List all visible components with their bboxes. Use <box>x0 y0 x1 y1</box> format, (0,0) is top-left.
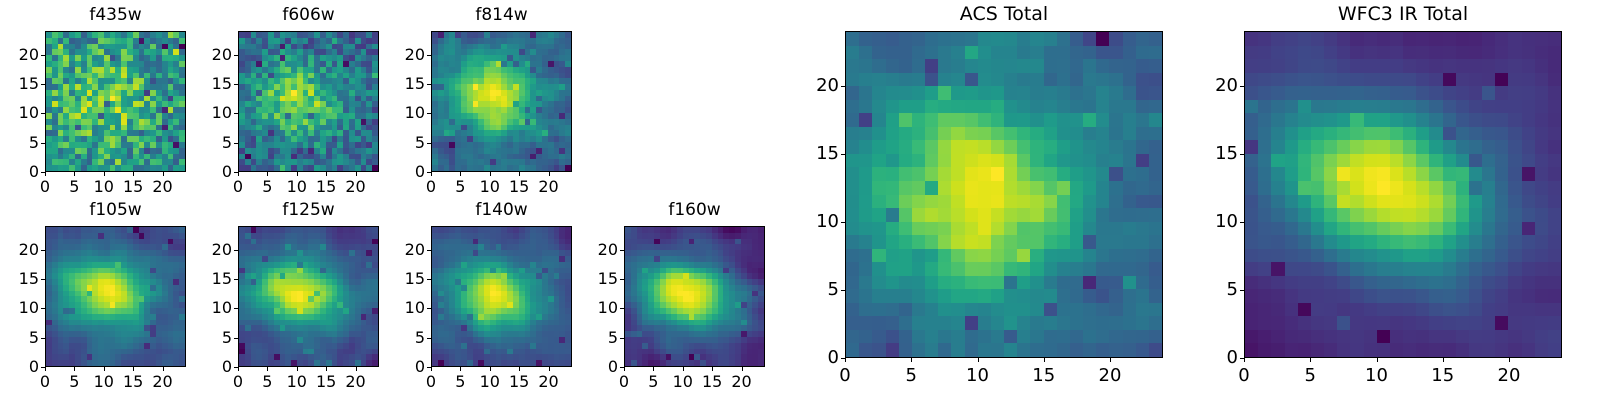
x-axis-tick-label: 20 <box>712 374 772 390</box>
y-axis-tick-label: 10 <box>0 300 39 316</box>
y-axis-tick <box>234 279 238 280</box>
y-axis-tick-label: 5 <box>365 135 425 151</box>
y-axis-tick <box>41 84 45 85</box>
y-axis-tick-label: 20 <box>365 47 425 63</box>
x-axis-tick-label: 0 <box>1214 367 1274 385</box>
y-axis-tick-label: 10 <box>172 300 232 316</box>
x-axis-tick <box>238 367 239 371</box>
x-axis-tick-label: 15 <box>1014 367 1074 385</box>
x-axis-tick <box>238 172 239 176</box>
x-axis-tick <box>978 358 979 362</box>
x-axis-tick <box>326 367 327 371</box>
x-axis-tick <box>297 172 298 176</box>
y-axis-tick-label: 15 <box>365 76 425 92</box>
y-axis-tick-label: 10 <box>365 300 425 316</box>
plot-area <box>431 226 572 367</box>
y-axis-tick-label: 5 <box>0 330 39 346</box>
x-axis-tick <box>133 172 134 176</box>
x-axis-tick <box>45 172 46 176</box>
x-axis-tick <box>431 172 432 176</box>
panel-f140w: f140w0510152005101520 <box>0 0 1600 400</box>
x-axis-tick-label: 10 <box>74 179 134 195</box>
y-axis-tick-label: 5 <box>172 135 232 151</box>
x-axis-tick <box>845 358 846 362</box>
x-axis-tick-label: 20 <box>326 374 386 390</box>
y-axis-tick <box>427 250 431 251</box>
x-axis-tick-label: 5 <box>1280 367 1340 385</box>
x-axis-tick <box>490 172 491 176</box>
y-axis-tick-label: 10 <box>558 300 618 316</box>
panel-f160w: f160w0510152005101520 <box>0 0 1600 400</box>
y-axis-tick <box>41 143 45 144</box>
y-axis-tick <box>620 338 624 339</box>
plot-area <box>238 31 379 172</box>
y-axis-tick-label: 0 <box>779 349 839 367</box>
x-axis-tick <box>74 172 75 176</box>
y-axis-tick <box>41 308 45 309</box>
x-axis-tick-label: 20 <box>133 179 193 195</box>
panel-f435w: f435w0510152005101520 <box>0 0 1600 400</box>
y-axis-tick <box>41 367 45 368</box>
x-axis-tick-label: 0 <box>815 367 875 385</box>
x-axis-tick <box>133 367 134 371</box>
panel-f125w: f125w0510152005101520 <box>0 0 1600 400</box>
plot-area <box>431 31 572 172</box>
y-axis-tick <box>841 222 845 223</box>
panel-title: f140w <box>431 202 572 219</box>
x-axis-tick <box>356 367 357 371</box>
y-axis-tick-label: 5 <box>558 330 618 346</box>
plot-area <box>238 226 379 367</box>
plot-area <box>624 226 765 367</box>
x-axis-tick <box>1110 358 1111 362</box>
y-axis-tick-label: 10 <box>172 105 232 121</box>
x-axis-tick-label: 15 <box>296 179 356 195</box>
x-axis-tick-label: 10 <box>267 374 327 390</box>
x-axis-tick-label: 15 <box>103 374 163 390</box>
y-axis-tick <box>620 308 624 309</box>
figure-canvas: f435w0510152005101520f606w05101520051015… <box>0 0 1600 400</box>
y-axis-tick-label: 20 <box>0 47 39 63</box>
y-axis-tick <box>234 113 238 114</box>
y-axis-tick-label: 15 <box>1178 145 1238 163</box>
panel-title: f160w <box>624 202 765 219</box>
y-axis-tick <box>41 113 45 114</box>
x-axis-tick <box>104 172 105 176</box>
panel-title: f435w <box>45 7 186 24</box>
heatmap-image <box>432 227 571 366</box>
x-axis-tick-label: 20 <box>519 374 579 390</box>
y-axis-tick <box>427 84 431 85</box>
x-axis-tick-label: 0 <box>15 179 75 195</box>
y-axis-tick <box>427 55 431 56</box>
y-axis-tick <box>234 55 238 56</box>
y-axis-tick <box>841 86 845 87</box>
y-axis-tick-label: 15 <box>0 76 39 92</box>
x-axis-tick-label: 15 <box>489 374 549 390</box>
y-axis-tick <box>841 290 845 291</box>
x-axis-tick <box>163 367 164 371</box>
heatmap-image <box>846 32 1162 357</box>
y-axis-tick <box>41 250 45 251</box>
x-axis-tick <box>712 367 713 371</box>
x-axis-tick <box>490 367 491 371</box>
x-axis-tick-label: 10 <box>267 179 327 195</box>
x-axis-tick-label: 0 <box>401 374 461 390</box>
panel-acs-total: ACS Total0510152005101520 <box>0 0 1600 400</box>
y-axis-tick-label: 15 <box>365 271 425 287</box>
x-axis-tick <box>45 367 46 371</box>
y-axis-tick <box>620 279 624 280</box>
y-axis-tick <box>41 55 45 56</box>
y-axis-tick-label: 15 <box>0 271 39 287</box>
x-axis-tick-label: 10 <box>460 374 520 390</box>
x-axis-tick-label: 15 <box>489 179 549 195</box>
y-axis-tick-label: 10 <box>365 105 425 121</box>
x-axis-tick-label: 0 <box>15 374 75 390</box>
panel-title: f814w <box>431 7 572 24</box>
y-axis-tick <box>427 308 431 309</box>
y-axis-tick-label: 0 <box>558 359 618 375</box>
panel-f606w: f606w0510152005101520 <box>0 0 1600 400</box>
x-axis-tick <box>104 367 105 371</box>
x-axis-tick-label: 20 <box>519 179 579 195</box>
x-axis-tick <box>431 367 432 371</box>
x-axis-tick <box>356 172 357 176</box>
heatmap-image <box>1245 32 1561 357</box>
panel-title: WFC3 IR Total <box>1244 5 1562 24</box>
plot-area <box>845 31 1163 358</box>
y-axis-tick-label: 10 <box>0 105 39 121</box>
x-axis-tick <box>297 367 298 371</box>
y-axis-tick <box>1240 222 1244 223</box>
y-axis-tick-label: 5 <box>365 330 425 346</box>
x-axis-tick-label: 5 <box>623 374 683 390</box>
y-axis-tick <box>41 279 45 280</box>
panel-title: f125w <box>238 202 379 219</box>
x-axis-tick-label: 10 <box>948 367 1008 385</box>
y-axis-tick-label: 5 <box>172 330 232 346</box>
x-axis-tick <box>1044 358 1045 362</box>
x-axis-tick-label: 0 <box>208 179 268 195</box>
y-axis-tick-label: 0 <box>172 164 232 180</box>
y-axis-tick <box>427 172 431 173</box>
panel-title: f606w <box>238 7 379 24</box>
x-axis-tick <box>1310 358 1311 362</box>
y-axis-tick <box>620 250 624 251</box>
x-axis-tick <box>549 367 550 371</box>
y-axis-tick <box>427 367 431 368</box>
y-axis-tick-label: 0 <box>172 359 232 375</box>
y-axis-tick-label: 0 <box>0 164 39 180</box>
y-axis-tick <box>1240 86 1244 87</box>
y-axis-tick-label: 15 <box>172 271 232 287</box>
y-axis-tick <box>1240 290 1244 291</box>
heatmap-image <box>239 227 378 366</box>
y-axis-tick-label: 10 <box>779 213 839 231</box>
x-axis-tick <box>326 172 327 176</box>
x-axis-tick <box>1509 358 1510 362</box>
y-axis-tick-label: 20 <box>172 47 232 63</box>
x-axis-tick <box>267 172 268 176</box>
x-axis-tick-label: 5 <box>237 179 297 195</box>
y-axis-tick-label: 10 <box>1178 213 1238 231</box>
y-axis-tick <box>234 308 238 309</box>
y-axis-tick <box>41 172 45 173</box>
x-axis-tick <box>163 172 164 176</box>
y-axis-tick-label: 15 <box>558 271 618 287</box>
x-axis-tick <box>74 367 75 371</box>
x-axis-tick-label: 10 <box>460 179 520 195</box>
y-axis-tick <box>234 250 238 251</box>
x-axis-tick <box>911 358 912 362</box>
x-axis-tick-label: 10 <box>1347 367 1407 385</box>
heatmap-image <box>239 32 378 171</box>
y-axis-tick <box>620 367 624 368</box>
y-axis-tick <box>427 338 431 339</box>
panel-title: ACS Total <box>845 5 1163 24</box>
x-axis-tick <box>519 172 520 176</box>
heatmap-image <box>46 32 185 171</box>
x-axis-tick <box>624 367 625 371</box>
y-axis-tick <box>41 338 45 339</box>
x-axis-tick-label: 15 <box>682 374 742 390</box>
y-axis-tick <box>234 338 238 339</box>
y-axis-tick <box>841 154 845 155</box>
y-axis-tick-label: 0 <box>365 359 425 375</box>
heatmap-image <box>46 227 185 366</box>
x-axis-tick-label: 5 <box>237 374 297 390</box>
x-axis-tick-label: 5 <box>430 179 490 195</box>
x-axis-tick <box>742 367 743 371</box>
x-axis-tick-label: 0 <box>401 179 461 195</box>
x-axis-tick <box>653 367 654 371</box>
x-axis-tick <box>267 367 268 371</box>
y-axis-tick-label: 20 <box>1178 77 1238 95</box>
y-axis-tick-label: 20 <box>365 242 425 258</box>
y-axis-tick-label: 15 <box>779 145 839 163</box>
y-axis-tick-label: 20 <box>779 77 839 95</box>
heatmap-image <box>432 32 571 171</box>
x-axis-tick <box>1377 358 1378 362</box>
x-axis-tick-label: 5 <box>44 374 104 390</box>
x-axis-tick-label: 15 <box>1413 367 1473 385</box>
y-axis-tick-label: 5 <box>779 281 839 299</box>
x-axis-tick-label: 5 <box>44 179 104 195</box>
x-axis-tick-label: 0 <box>208 374 268 390</box>
y-axis-tick <box>234 143 238 144</box>
x-axis-tick <box>460 367 461 371</box>
x-axis-tick-label: 10 <box>74 374 134 390</box>
y-axis-tick-label: 15 <box>172 76 232 92</box>
y-axis-tick <box>1240 358 1244 359</box>
x-axis-tick-label: 20 <box>1080 367 1140 385</box>
y-axis-tick-label: 20 <box>172 242 232 258</box>
x-axis-tick <box>519 367 520 371</box>
plot-area <box>1244 31 1562 358</box>
x-axis-tick <box>549 172 550 176</box>
x-axis-tick <box>1244 358 1245 362</box>
x-axis-tick-label: 20 <box>1479 367 1539 385</box>
y-axis-tick <box>1240 154 1244 155</box>
y-axis-tick <box>234 367 238 368</box>
plot-area <box>45 31 186 172</box>
y-axis-tick <box>427 279 431 280</box>
y-axis-tick-label: 0 <box>365 164 425 180</box>
x-axis-tick-label: 15 <box>103 179 163 195</box>
x-axis-tick-label: 0 <box>594 374 654 390</box>
x-axis-tick <box>460 172 461 176</box>
y-axis-tick-label: 20 <box>0 242 39 258</box>
y-axis-tick-label: 0 <box>1178 349 1238 367</box>
y-axis-tick <box>234 172 238 173</box>
panel-f814w: f814w0510152005101520 <box>0 0 1600 400</box>
x-axis-tick <box>1443 358 1444 362</box>
x-axis-tick-label: 20 <box>326 179 386 195</box>
y-axis-tick-label: 20 <box>558 242 618 258</box>
x-axis-tick-label: 15 <box>296 374 356 390</box>
heatmap-image <box>625 227 764 366</box>
x-axis-tick <box>683 367 684 371</box>
plot-area <box>45 226 186 367</box>
y-axis-tick <box>427 113 431 114</box>
panel-f105w: f105w0510152005101520 <box>0 0 1600 400</box>
x-axis-tick-label: 20 <box>133 374 193 390</box>
panel-wfc3-ir-total: WFC3 IR Total0510152005101520 <box>0 0 1600 400</box>
y-axis-tick-label: 5 <box>0 135 39 151</box>
y-axis-tick-label: 5 <box>1178 281 1238 299</box>
x-axis-tick-label: 5 <box>881 367 941 385</box>
y-axis-tick <box>234 84 238 85</box>
x-axis-tick-label: 10 <box>653 374 713 390</box>
y-axis-tick-label: 0 <box>0 359 39 375</box>
y-axis-tick <box>427 143 431 144</box>
x-axis-tick-label: 5 <box>430 374 490 390</box>
y-axis-tick <box>841 358 845 359</box>
panel-title: f105w <box>45 202 186 219</box>
